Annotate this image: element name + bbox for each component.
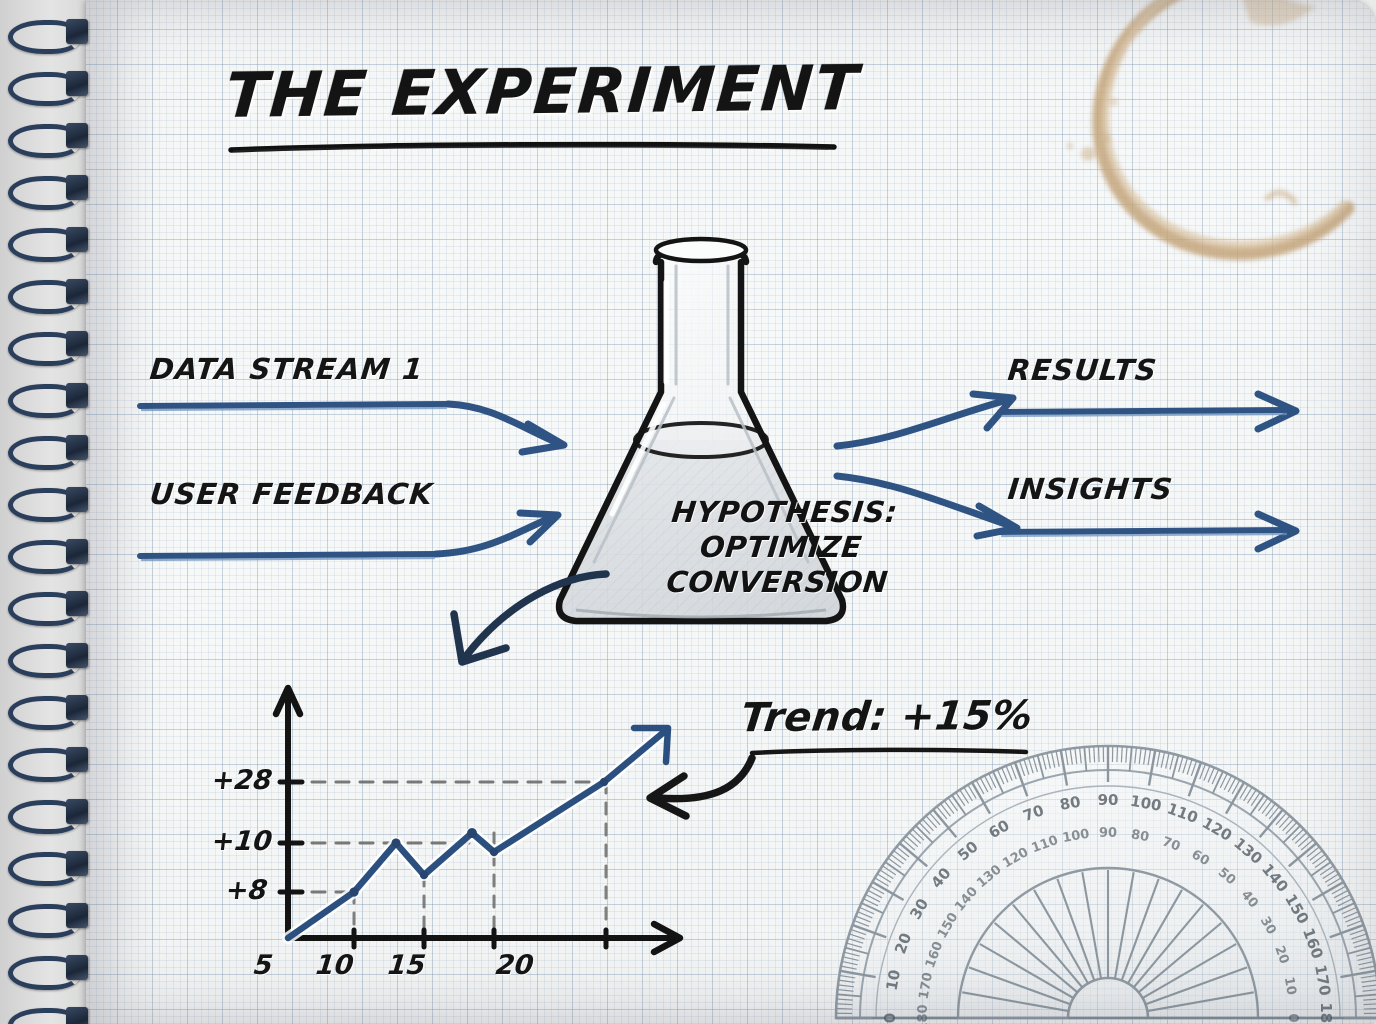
output-line-insights (996, 512, 1336, 552)
x-tick-label-5: 5 (252, 950, 274, 981)
spiral-ring (4, 174, 96, 204)
spiral-ring (4, 590, 96, 620)
protractor-inner-label: 180 (916, 1004, 931, 1024)
protractor-inner-label: 10 (1281, 976, 1299, 996)
protractor-outer-label: 90 (1098, 791, 1119, 809)
spiral-ring (4, 18, 96, 48)
spiral-ring (4, 538, 96, 568)
page-title: THE EXPERIMENT (223, 51, 862, 132)
spiral-ring (4, 954, 96, 984)
spiral-ring (4, 902, 96, 932)
spiral-ring (4, 642, 96, 672)
spiral-ring (4, 70, 96, 100)
chart-axes (276, 688, 680, 952)
y-tick-label-8: +8 (224, 875, 269, 906)
spiral-ring (4, 122, 96, 152)
x-tick-label-15: 15 (386, 950, 427, 981)
spiral-ring (4, 278, 96, 308)
title-underline (228, 143, 838, 152)
y-tick-label-28: +28 (210, 765, 273, 796)
input-label-data-stream-1: DATA STREAM 1 (148, 352, 425, 386)
output-label-results: RESULTS (1006, 353, 1159, 387)
notebook-page: THE EXPERIMENT DATA STREAM 1 USER FEEDBA… (0, 0, 1376, 1024)
spiral-ring (4, 330, 96, 360)
paper-sheet: THE EXPERIMENT DATA STREAM 1 USER FEEDBA… (86, 0, 1376, 1024)
protractor-outer-label: 0 (881, 1013, 899, 1023)
spiral-ring (4, 434, 96, 464)
coffee-stain-icon (966, 0, 1376, 290)
protractor: 0180101702016030150401405013060120701108… (828, 718, 1376, 1024)
spiral-ring (4, 798, 96, 828)
chart-series-conversion-trend (288, 728, 668, 938)
chart-guides (288, 782, 606, 892)
line-chart (176, 670, 706, 960)
input-label-user-feedback: USER FEEDBACK (148, 477, 435, 511)
protractor-inner-label: 0 (1285, 1013, 1300, 1022)
spiral-ring (4, 746, 96, 776)
spiral-ring (4, 486, 96, 516)
spiral-ring (4, 694, 96, 724)
y-tick-label-10: +10 (210, 826, 273, 857)
curved-arrow-to-chart-icon (426, 552, 636, 682)
protractor-inner-label: 90 (1099, 826, 1117, 841)
protractor-outer-label: 180 (1317, 1002, 1335, 1024)
spiral-ring (4, 850, 96, 880)
protractor-inner-label: 80 (1130, 827, 1150, 845)
protractor-outer-label: 10 (883, 968, 904, 992)
spiral-ring (4, 1006, 96, 1024)
protractor-outer-label: 80 (1058, 793, 1082, 814)
output-label-insights: INSIGHTS (1006, 472, 1175, 506)
output-line-results (996, 392, 1336, 432)
x-tick-label-10: 10 (314, 950, 355, 981)
spiral-ring (4, 226, 96, 256)
x-tick-label-20: 20 (494, 950, 535, 981)
spiral-ring (4, 382, 96, 412)
flask-text-line-3: CONVERSION (635, 565, 919, 600)
